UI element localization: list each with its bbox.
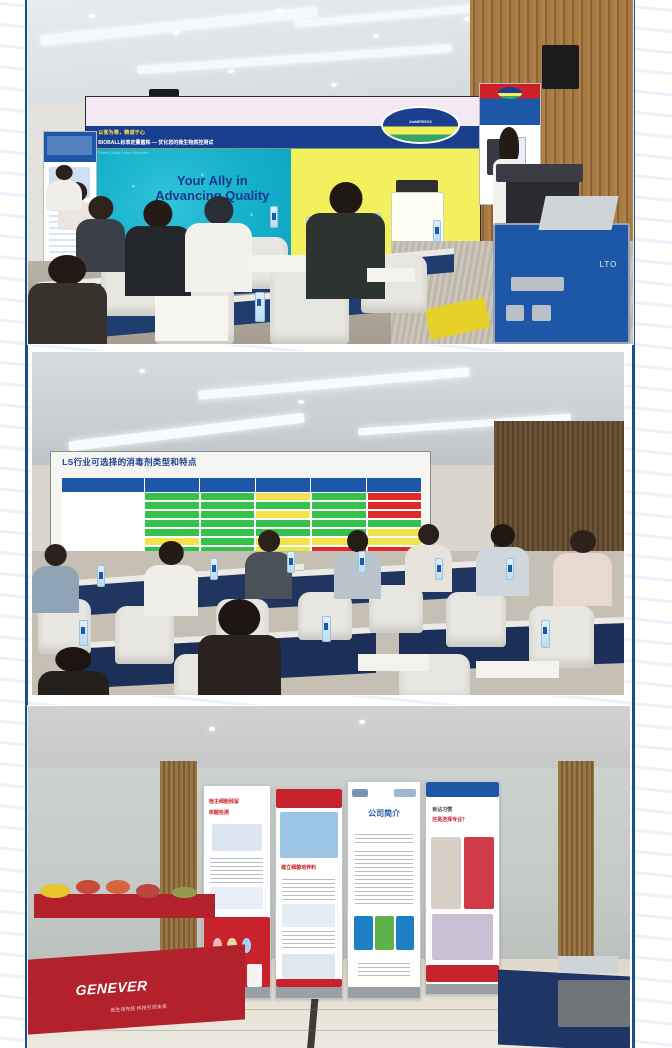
note-paper [476,661,559,678]
photo-lobby-roll-up-banners[interactable]: 宿主细胞残留 核酸检测 建立细菌培养料 [28,706,630,1048]
note-paper [367,268,415,282]
banner-3-body-text [355,851,413,907]
banner-4-laundry-photo [432,914,493,961]
person-head [204,196,233,225]
banner-4-subtitle: 还是选择专业？ [432,816,493,823]
table-row [62,492,422,501]
person-head [159,541,184,565]
table-header-cell [62,478,145,492]
audience-member [32,544,79,613]
fruit-banana [40,884,70,898]
banner-2-microscope-photo [280,812,338,858]
road-case-handle [511,277,564,291]
banner-2-base [276,987,342,997]
person-torso [245,552,292,599]
person-torso [185,223,252,292]
water-bottle [255,292,265,322]
note-paper [246,255,307,272]
note-paper [358,654,429,671]
table-header-cell [256,478,311,492]
person-head [56,647,92,672]
banner-1-qr-code [247,964,262,987]
water-bottle [506,558,514,580]
table-header-row [62,478,422,492]
person-torso [46,180,82,210]
podium-laptop [496,164,583,181]
photo-2-scene: LS行业可选择的消毒剂类型和特点 [32,352,624,695]
table-row [62,510,422,519]
person-torso [553,553,612,606]
ceiling-speaker [542,45,578,90]
banner-3-base [348,987,420,998]
ceiling-downlight [359,720,365,724]
wood-column [160,761,196,973]
banner-2-body-text [282,931,335,950]
water-bottle [435,558,443,580]
chair [529,606,594,668]
person-head [570,530,596,553]
person-head [258,530,280,552]
banner-4-header [426,782,498,797]
banner-3-subtitle-rule [355,834,413,845]
table-row [62,501,422,510]
photo-stack: 以客为尊，精诚于心 BIOBALL标准定量菌株 — 优化您的微生物质控测试 Ph… [0,0,672,1048]
banner-4-footer [426,965,498,982]
table-header-cell [200,478,255,492]
audience-member [553,530,612,605]
ceiling-downlight [228,69,234,73]
banner-3-icon-tile [396,916,415,950]
person-head [218,599,259,637]
staff-member [46,165,82,210]
banner-2-figure [282,904,335,927]
slide-chinese-line-2: BIOBALL标准定量菌株 — 优化您的微生物质控测试 [98,139,213,146]
banner-4-person-photo [431,837,461,909]
person-torso [125,226,192,295]
water-bottle [270,206,278,228]
wood-column [558,761,594,973]
person-head [490,524,515,547]
ceiling-downlight [446,373,452,377]
water-bottle [358,551,366,573]
water-bottle [210,558,218,580]
audience-member [144,541,197,616]
equipment-rack [558,980,630,1028]
banner-3-company-lines [358,963,410,978]
standing-product-box [155,296,228,341]
person-torso [32,566,79,613]
water-bottle [97,565,105,587]
banner-1-diagram [210,887,263,908]
table-skirt-logo: GENEVER [76,977,148,998]
photo-1-scene: 以客为尊，精诚于心 BIOBALL标准定量菌株 — 优化您的微生物质控测试 Ph… [28,0,633,344]
banner-3-partner-logos [394,789,416,798]
ceiling-downlight [89,14,95,18]
audience-member [38,647,109,695]
person-head [44,544,67,566]
banner-1-subtitle: 核酸检测 [209,809,265,816]
chair [446,592,505,647]
slide-chinese-line-3: Pharma Quality Control Reinvented [98,151,148,155]
person-torso [28,283,107,344]
person-head [329,182,362,215]
road-case-label: LTO [600,260,618,269]
person-torso [198,635,281,695]
person-torso [306,213,385,300]
person-torso [38,671,109,695]
fruit-pear [172,887,196,897]
person-head [418,524,440,546]
person-head [88,196,113,220]
table-surface [34,894,215,918]
ceiling-downlight [209,727,215,731]
audience-member [245,530,292,599]
ceiling-downlight [331,83,337,87]
photo-seminar-disinfectant-table[interactable]: LS行业可选择的消毒剂类型和特点 [32,352,624,695]
control-laptop [539,196,619,230]
photo-3-scene: 宿主细胞残留 核酸检测 建立细菌培养料 [28,706,630,1048]
banner-4-title: 目沾习惯 [432,806,493,813]
banner-4-person-photo [464,837,494,909]
person-head [56,165,73,180]
water-bottle [541,620,550,648]
slide-chinese-line-1: 以客为尊，精诚于心 [98,129,145,136]
slide-title: LS行业可选择的消毒剂类型和特点 [62,456,197,468]
table-header-cell [311,478,366,492]
banner-1-title: 宿主细胞残留 [209,798,265,805]
person-torso [144,565,197,616]
banner-2-body-text [282,879,335,900]
banner-4-base [426,984,498,995]
branded-table-skirt: GENEVER 创生领先技 科技引领未来 [28,945,245,1035]
roll-up-banner-4[interactable]: 目沾习惯 还是选择专业？ [425,781,499,995]
banner-1-body-text [210,858,263,883]
audience-member [185,196,252,292]
person-torso [476,547,529,596]
photo-conference-hall-bio-merieux[interactable]: 以客为尊，精诚于心 BIOBALL标准定量菌株 — 优化您的微生物质控测试 Ph… [28,0,633,344]
audience-member [476,524,529,596]
ceiling-downlight [276,9,282,13]
banner-2-header [276,789,342,808]
water-bottle [287,551,295,573]
equipment-shelf [558,956,618,973]
audience-member [198,599,281,695]
banner-2-figure [282,954,335,979]
person-head [347,530,369,552]
roll-up-banner-3[interactable]: 公司简介 [347,781,421,998]
bio-merieux-logo-text: bioMÉRIEUX [383,120,458,124]
table-header-cell [367,478,422,492]
banner-2-footer [276,979,342,987]
person-head [143,200,172,229]
audience-member [405,524,452,593]
fruit-apple [136,884,160,898]
audience-member [125,200,192,296]
banner-3-icon-tile [354,916,373,950]
water-bottle [79,620,88,646]
road-case-latch [532,305,551,321]
banner-3-logo [352,789,368,798]
ceiling-downlight [139,369,145,373]
banner-logo [498,87,522,99]
roll-up-banner-2[interactable]: 建立细菌培养料 [275,788,343,999]
banner-header-block [47,136,92,155]
bio-merieux-logo: bioMÉRIEUX [381,106,460,144]
table-row [62,519,422,528]
banner-3-icon-tile [375,916,394,950]
water-bottle [322,616,331,642]
audience-member [28,255,107,344]
person-head [48,255,86,285]
banner-1-product-image [212,824,262,852]
table-skirt-subtitle: 创生领先技 科技引领未来 [110,1003,166,1014]
table-header-cell [145,478,200,492]
person-torso [405,545,452,592]
equipment-road-case: LTO [493,223,630,344]
banner-3-title: 公司简介 [354,808,415,819]
banner-2-title: 建立细菌培养料 [281,864,337,871]
water-bottle [433,220,441,242]
